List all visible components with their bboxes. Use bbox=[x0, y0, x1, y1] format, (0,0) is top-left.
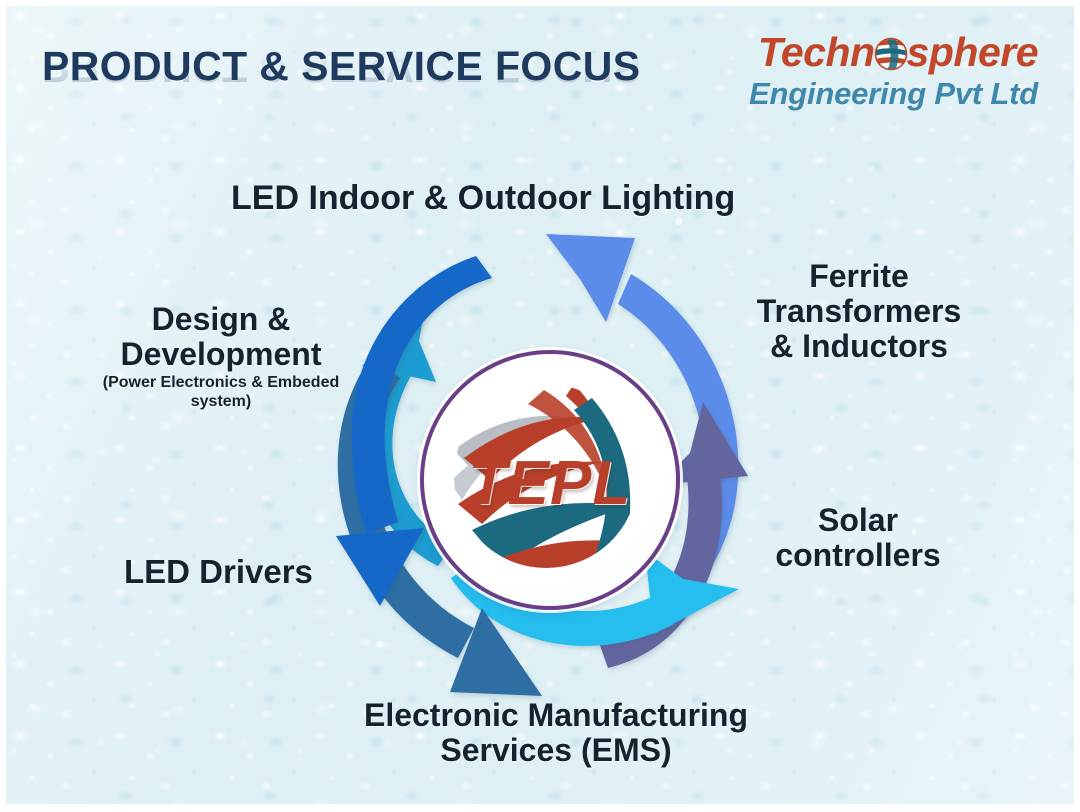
ferrite-line-2: Transformers bbox=[757, 293, 962, 329]
node-label-solar: Solar controllers bbox=[743, 503, 973, 573]
solar-line-2: controllers bbox=[775, 537, 940, 573]
node-label-lighting: LED Indoor & Outdoor Lighting bbox=[231, 180, 735, 217]
ferrite-line-1: Ferrite bbox=[809, 258, 909, 294]
node-label-ferrite: Ferrite Transformers & Inductors bbox=[734, 259, 984, 365]
center-logo-badge: TEPL bbox=[420, 350, 680, 610]
design-line-2: Development bbox=[121, 336, 322, 372]
cycle-diagram: TEPL LED Indoor & Outdoor Lighting Desig… bbox=[6, 6, 1074, 804]
node-label-design: Design & Development (Power Electronics … bbox=[86, 302, 356, 412]
slide-canvas: PRODUCT & SERVICE FOCUS PRODUCT & SERVIC… bbox=[6, 6, 1074, 804]
design-sublabel: (Power Electronics & Embeded system) bbox=[86, 374, 356, 412]
ferrite-line-3: & Inductors bbox=[770, 328, 948, 364]
node-label-ems: Electronic Manufacturing Services (EMS) bbox=[336, 698, 776, 768]
design-line-1: Design & bbox=[152, 301, 291, 337]
node-label-drivers: LED Drivers bbox=[124, 554, 313, 590]
solar-line-1: Solar bbox=[818, 502, 898, 538]
slide: PRODUCT & SERVICE FOCUS PRODUCT & SERVIC… bbox=[0, 0, 1080, 812]
tepl-wordmark: TEPL bbox=[424, 448, 676, 519]
ems-line-1: Electronic Manufacturing bbox=[364, 697, 748, 733]
ems-line-2: Services (EMS) bbox=[440, 732, 671, 768]
